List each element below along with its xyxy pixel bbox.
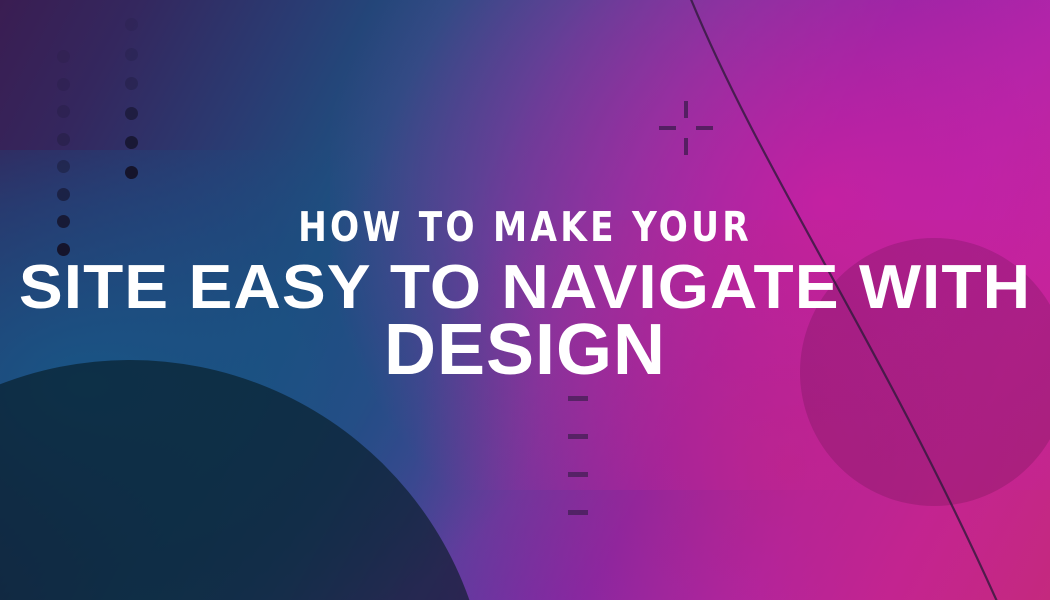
headline-line-3: DESIGN bbox=[0, 309, 1050, 391]
blog-header-banner: HOW TO MAKE YOUR SITE EASY TO NAVIGATE W… bbox=[0, 0, 1050, 600]
page-title: HOW TO MAKE YOUR SITE EASY TO NAVIGATE W… bbox=[0, 0, 1050, 600]
headline-line-1: HOW TO MAKE YOUR bbox=[37, 203, 1014, 251]
